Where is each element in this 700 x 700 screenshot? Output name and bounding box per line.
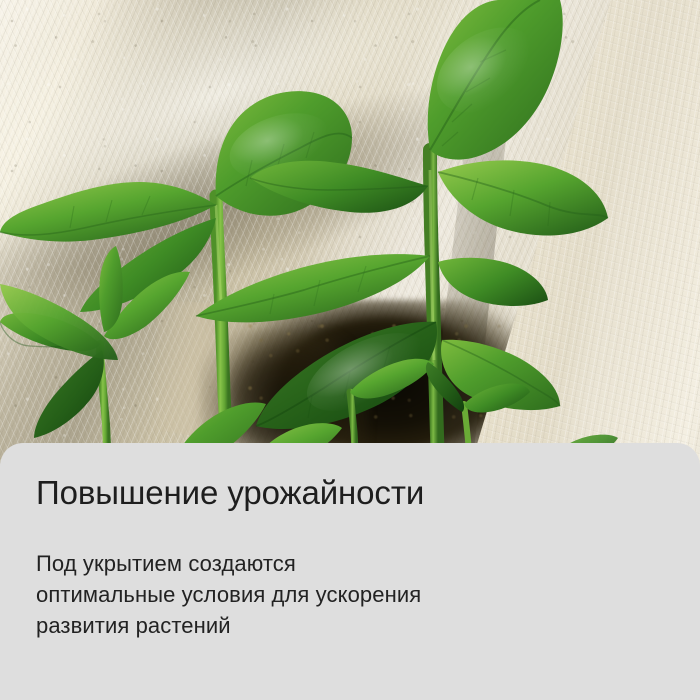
promo-card-canvas: Повышение урожайности Под укрытием созда…	[0, 0, 700, 700]
card-body-line-1: Под укрытием создаются	[36, 548, 636, 579]
leaf-right-mid	[438, 258, 548, 306]
card-title: Повышение урожайности	[36, 473, 424, 513]
leaf-small-left-b	[34, 350, 104, 438]
seedling-photo	[0, 0, 700, 470]
card-body: Под укрытием создаются оптимальные услов…	[36, 548, 636, 641]
leaf-right-upper	[438, 160, 608, 235]
seedling-plants	[0, 0, 700, 470]
card-body-line-2: оптимальные условия для ускорения	[36, 579, 636, 610]
card-body-line-3: развития растений	[36, 610, 636, 641]
